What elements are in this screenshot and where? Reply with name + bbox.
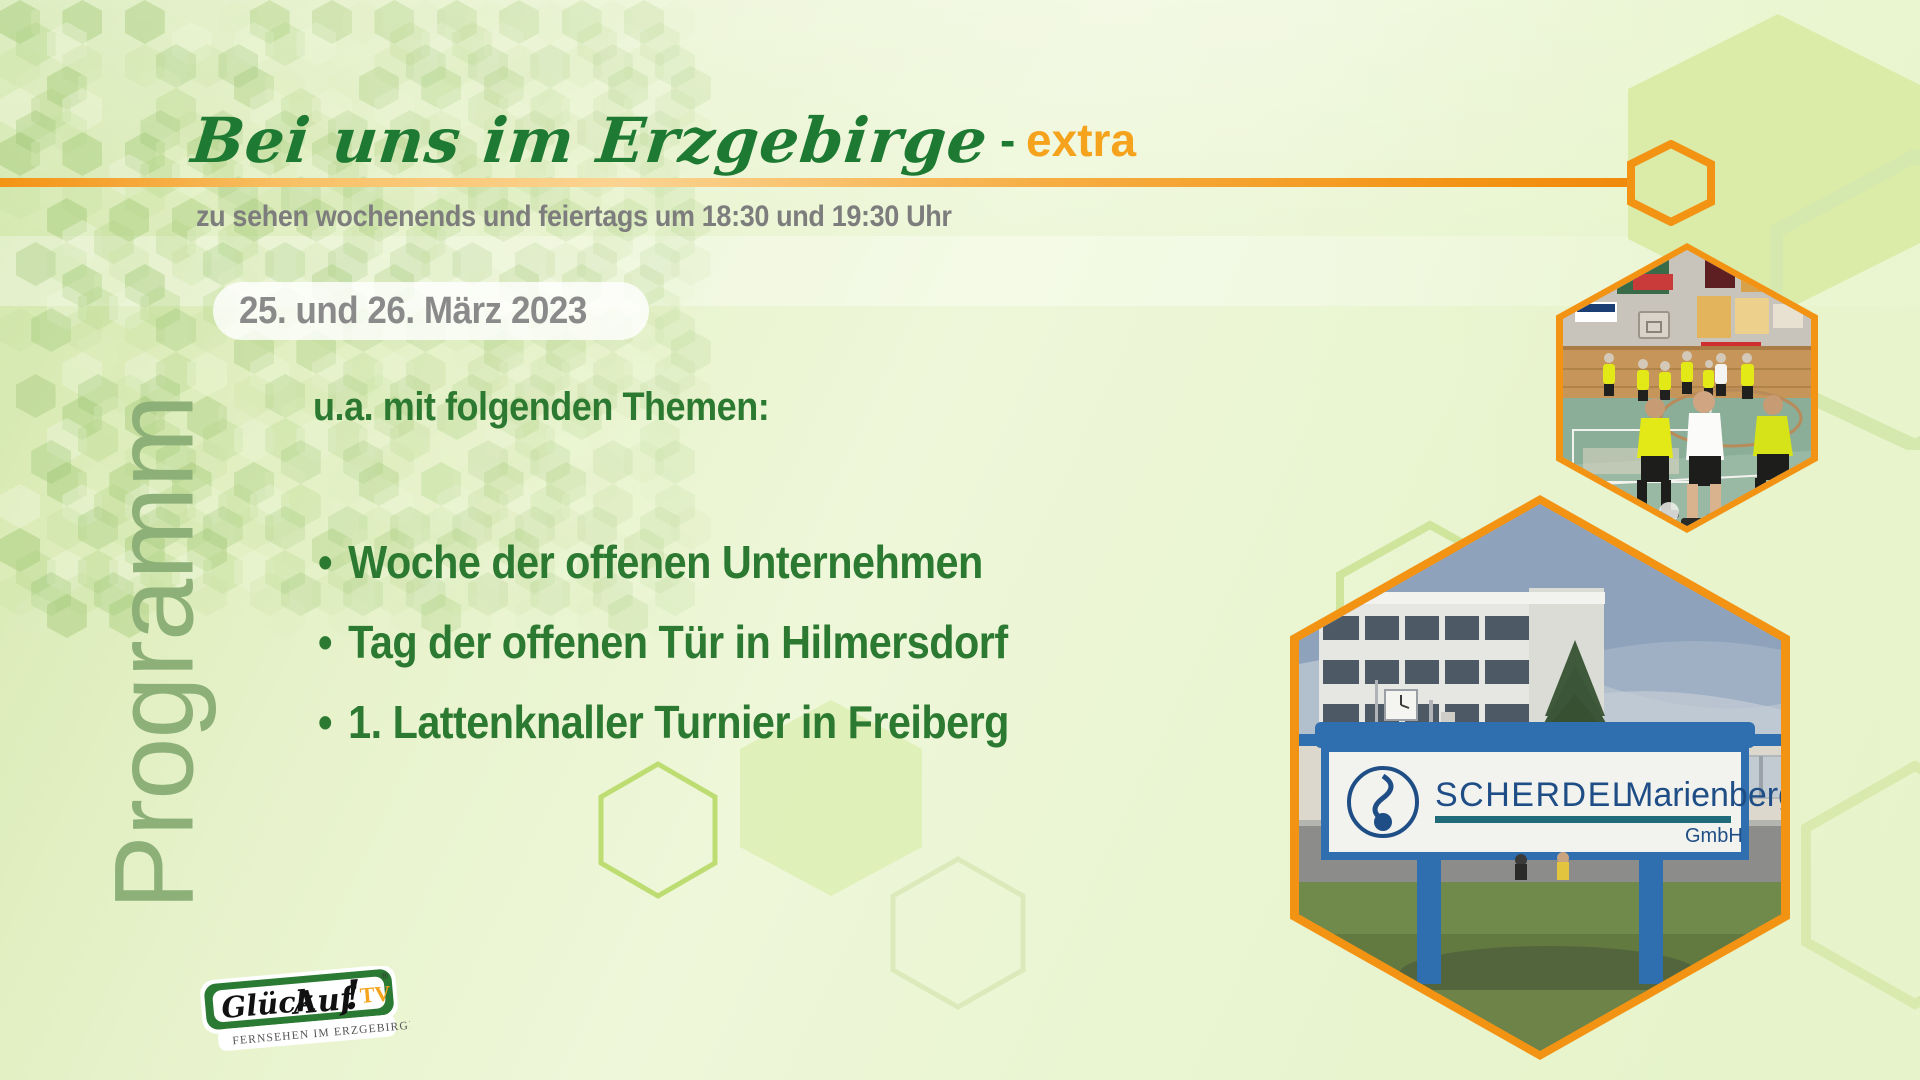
honeycomb-cell (562, 44, 602, 88)
honeycomb-cell (374, 0, 414, 44)
honeycomb-cell (172, 22, 212, 66)
honeycomb-cell (265, 22, 305, 66)
honeycomb-cell (499, 0, 539, 44)
orange-divider-rule (0, 178, 1632, 187)
honeycomb-cell (671, 242, 711, 286)
honeycomb-cell (140, 154, 180, 198)
honeycomb-cell (94, 220, 134, 264)
honeycomb-cell (47, 462, 87, 506)
title-dash: - (1000, 113, 1016, 167)
honeycomb-cell (187, 44, 227, 88)
honeycomb-cell (109, 198, 149, 242)
honeycomb-cell (359, 462, 399, 506)
honeycomb-cell (577, 22, 617, 66)
honeycomb-cell (281, 440, 321, 484)
title-main-text: Bei uns im Erzgebirge (188, 104, 991, 177)
honeycomb-cell (218, 0, 258, 44)
honeycomb-cell (468, 484, 508, 528)
honeycomb-cell (47, 550, 87, 594)
honeycomb-cell (281, 572, 321, 616)
honeycomb-cell (374, 440, 414, 484)
honeycomb-cell (530, 44, 570, 88)
honeycomb-cell (62, 88, 102, 132)
photo-indoor-football-image (1563, 250, 1811, 526)
honeycomb-cell (265, 418, 305, 462)
honeycomb-cell (484, 22, 524, 66)
honeycomb-cell (406, 0, 446, 44)
honeycomb-cell (390, 22, 430, 66)
honeycomb-cell (0, 484, 40, 528)
honeycomb-cell (343, 0, 383, 44)
honeycomb-cell (31, 440, 71, 484)
honeycomb-cell (109, 154, 149, 198)
honeycomb-cell (250, 572, 290, 616)
honeycomb-cell (468, 440, 508, 484)
honeycomb-cell (655, 0, 695, 44)
honeycomb-cell (593, 440, 633, 484)
honeycomb-cell (655, 308, 695, 352)
honeycomb-cell (296, 242, 336, 286)
decorative-hexagon-outline-far-right (1800, 760, 1920, 1010)
honeycomb-cell (140, 66, 180, 110)
honeycomb-cell (499, 484, 539, 528)
honeycomb-cell (31, 132, 71, 176)
honeycomb-cell (390, 242, 430, 286)
honeycomb-cell (62, 44, 102, 88)
honeycomb-cell (577, 242, 617, 286)
honeycomb-cell (593, 0, 633, 44)
honeycomb-cell (31, 88, 71, 132)
honeycomb-cell (218, 484, 258, 528)
sign-location-text: Marienberg (1625, 776, 1781, 814)
honeycomb-cell (640, 462, 680, 506)
honeycomb-cell (0, 0, 40, 44)
honeycomb-cell (562, 484, 602, 528)
topics-list: Woche der offenen Unternehmen Tag der of… (318, 535, 1086, 775)
honeycomb-cell (62, 132, 102, 176)
honeycomb-cell (47, 242, 87, 286)
honeycomb-cell (78, 66, 118, 110)
glueckauf-tv-logo: Glück Auf ! TV ® FERNSEHEN IM ERZGEBIRGE (198, 966, 410, 1054)
honeycomb-cell (530, 0, 570, 44)
honeycomb-cell (281, 484, 321, 528)
honeycomb-cell (328, 242, 368, 286)
honeycomb-cell (16, 374, 56, 418)
honeycomb-cell (0, 572, 40, 616)
honeycomb-cell (16, 110, 56, 154)
honeycomb-cell (546, 242, 586, 286)
honeycomb-cell (374, 44, 414, 88)
honeycomb-cell (640, 330, 680, 374)
honeycomb-cell (0, 132, 40, 176)
honeycomb-cell (624, 44, 664, 88)
sign-legal-text: GmbH (1685, 825, 1743, 847)
decorative-hexagon-outline-bottom-mid (888, 855, 1028, 1011)
honeycomb-cell (0, 88, 40, 132)
honeycomb-cell (0, 528, 40, 572)
orange-hexagon-icon (1625, 140, 1717, 226)
honeycomb-cell (655, 44, 695, 88)
honeycomb-cell (47, 418, 87, 462)
honeycomb-cell (140, 110, 180, 154)
honeycomb-cell (250, 0, 290, 44)
honeycomb-cell (16, 594, 56, 638)
honeycomb-cell (265, 462, 305, 506)
honeycomb-cell (452, 22, 492, 66)
broadcast-schedule-subtitle: zu sehen wochenends und feiertags um 18:… (196, 200, 952, 234)
honeycomb-cell (452, 242, 492, 286)
honeycomb-cell (265, 506, 305, 550)
honeycomb-cell (499, 440, 539, 484)
honeycomb-cell (218, 396, 258, 440)
honeycomb-cell (47, 66, 87, 110)
honeycomb-cell (62, 0, 102, 44)
honeycomb-cell (16, 550, 56, 594)
decorative-hexagon-outline-bottom-left (596, 760, 720, 900)
honeycomb-cell (234, 22, 274, 66)
honeycomb-cell (47, 110, 87, 154)
list-item: Tag der offenen Tür in Hilmersdorf (318, 615, 1009, 669)
honeycomb-cell (328, 462, 368, 506)
sign-company-text: SCHERDEL (1435, 776, 1632, 814)
honeycomb-cell (156, 220, 196, 264)
honeycomb-cell (281, 528, 321, 572)
honeycomb-cell (125, 264, 165, 308)
honeycomb-cell (250, 352, 290, 396)
honeycomb-cell (125, 132, 165, 176)
honeycomb-cell (577, 462, 617, 506)
svg-text:TV: TV (359, 980, 392, 1008)
page-title: Bei uns im Erzgebirge-extra (188, 104, 1140, 177)
honeycomb-cell (421, 462, 461, 506)
honeycomb-cell (593, 44, 633, 88)
honeycomb-cell (156, 88, 196, 132)
honeycomb-cell (47, 594, 87, 638)
honeycomb-cell (47, 286, 87, 330)
honeycomb-cell (562, 0, 602, 44)
honeycomb-cell (109, 242, 149, 286)
honeycomb-cell (47, 198, 87, 242)
honeycomb-cell (655, 264, 695, 308)
honeycomb-cell (47, 506, 87, 550)
honeycomb-cell (296, 22, 336, 66)
poster-canvas: Bei uns im Erzgebirge-extra zu sehen woc… (0, 0, 1920, 1080)
honeycomb-cell (31, 572, 71, 616)
honeycomb-cell (62, 220, 102, 264)
date-badge: 25. und 26. März 2023 (213, 282, 649, 340)
honeycomb-cell (421, 242, 461, 286)
honeycomb-cell (312, 0, 352, 44)
honeycomb-cell (671, 330, 711, 374)
honeycomb-cell (437, 44, 477, 88)
honeycomb-cell (374, 484, 414, 528)
honeycomb-cell (546, 462, 586, 506)
honeycomb-cell (421, 22, 461, 66)
honeycomb-cell (608, 22, 648, 66)
honeycomb-cell (94, 264, 134, 308)
title-accent-extra: extra (1026, 113, 1136, 167)
honeycomb-cell (265, 374, 305, 418)
honeycomb-cell (499, 44, 539, 88)
honeycomb-cell (16, 242, 56, 286)
honeycomb-cell (234, 418, 274, 462)
honeycomb-cell (515, 242, 555, 286)
honeycomb-cell (343, 440, 383, 484)
honeycomb-cell (125, 0, 165, 44)
honeycomb-cell (530, 484, 570, 528)
honeycomb-cell (31, 0, 71, 44)
honeycomb-cell (203, 242, 243, 286)
honeycomb-cell (593, 484, 633, 528)
honeycomb-cell (406, 44, 446, 88)
honeycomb-cell (624, 0, 664, 44)
honeycomb-cell (655, 440, 695, 484)
honeycomb-cell (16, 22, 56, 66)
honeycomb-cell (0, 308, 40, 352)
honeycomb-cell (640, 22, 680, 66)
honeycomb-cell (655, 484, 695, 528)
honeycomb-cell (452, 462, 492, 506)
honeycomb-cell (234, 550, 274, 594)
honeycomb-cell (250, 484, 290, 528)
honeycomb-cell (530, 440, 570, 484)
svg-text:®: ® (381, 971, 389, 982)
honeycomb-cell (265, 550, 305, 594)
honeycomb-cell (218, 44, 258, 88)
honeycomb-cell (624, 440, 664, 484)
honeycomb-cell (234, 506, 274, 550)
honeycomb-cell (234, 242, 274, 286)
honeycomb-cell (62, 264, 102, 308)
honeycomb-cell (437, 484, 477, 528)
honeycomb-cell (156, 44, 196, 88)
honeycomb-cell (16, 66, 56, 110)
themes-heading: u.a. mit folgenden Themen: (313, 385, 769, 430)
honeycomb-cell (484, 462, 524, 506)
honeycomb-cell (125, 44, 165, 88)
vertical-section-label: Programm (90, 323, 219, 983)
honeycomb-cell (265, 242, 305, 286)
honeycomb-cell (234, 374, 274, 418)
honeycomb-cell (468, 44, 508, 88)
list-item: 1. Lattenknaller Turnier in Freiberg (318, 695, 1009, 749)
honeycomb-cell (47, 22, 87, 66)
honeycomb-cell (172, 242, 212, 286)
honeycomb-cell (640, 242, 680, 286)
honeycomb-cell (31, 308, 71, 352)
honeycomb-cell (437, 0, 477, 44)
honeycomb-cell (468, 0, 508, 44)
honeycomb-cell (0, 44, 40, 88)
list-item: Woche der offenen Unternehmen (318, 535, 1009, 589)
honeycomb-cell (265, 594, 305, 638)
date-badge-label: 25. und 26. März 2023 (239, 290, 587, 333)
honeycomb-cell (234, 462, 274, 506)
